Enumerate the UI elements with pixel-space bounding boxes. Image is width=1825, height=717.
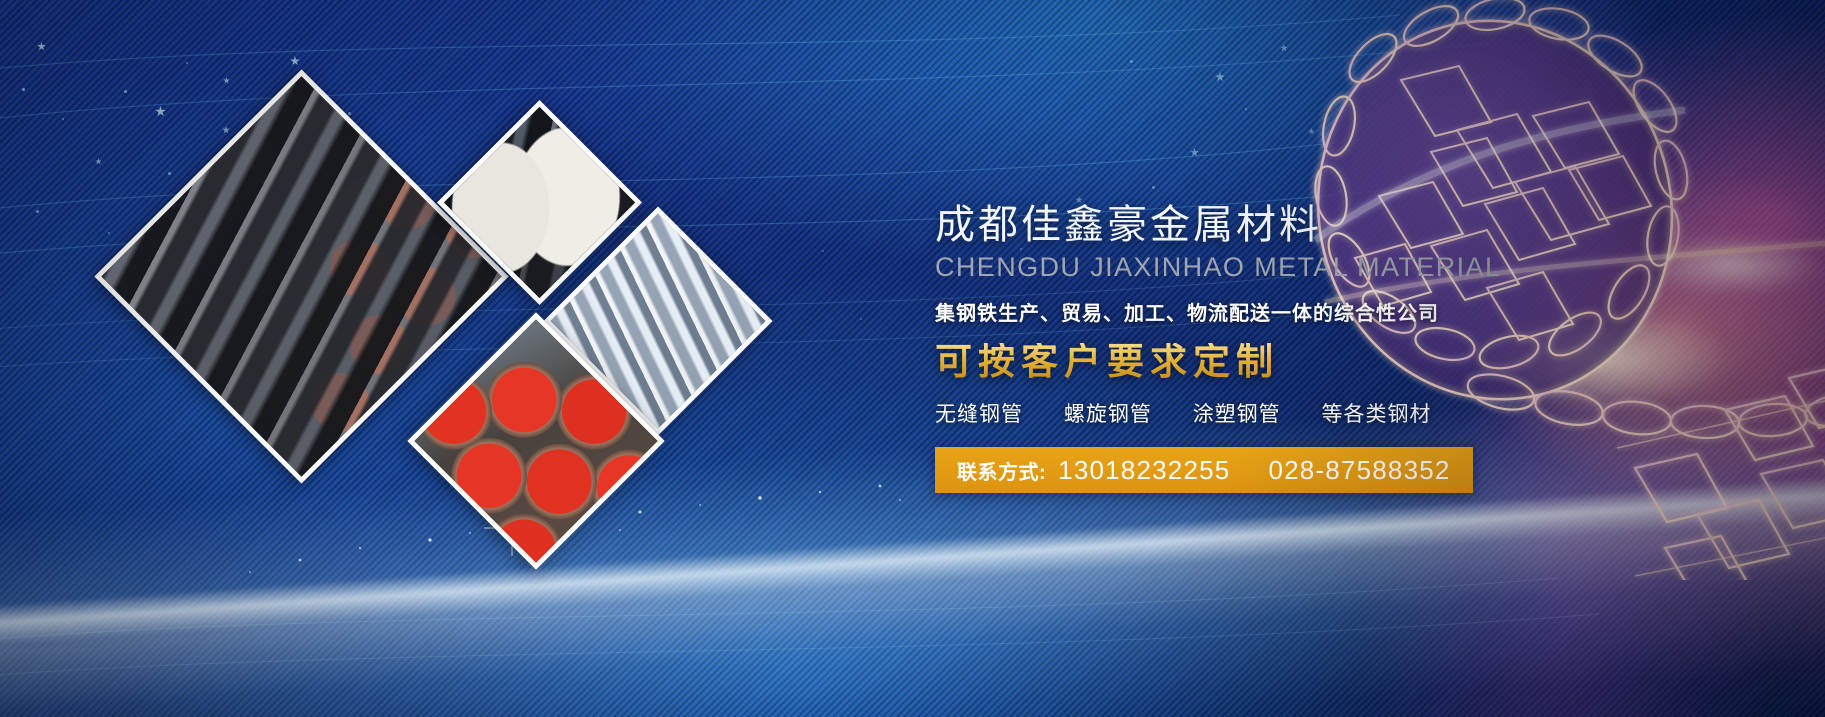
background-vignette: [0, 0, 1825, 717]
promo-banner: 成都佳鑫豪金属材料 CHENGDU JIAXINHAO METAL MATERI…: [0, 0, 1825, 717]
